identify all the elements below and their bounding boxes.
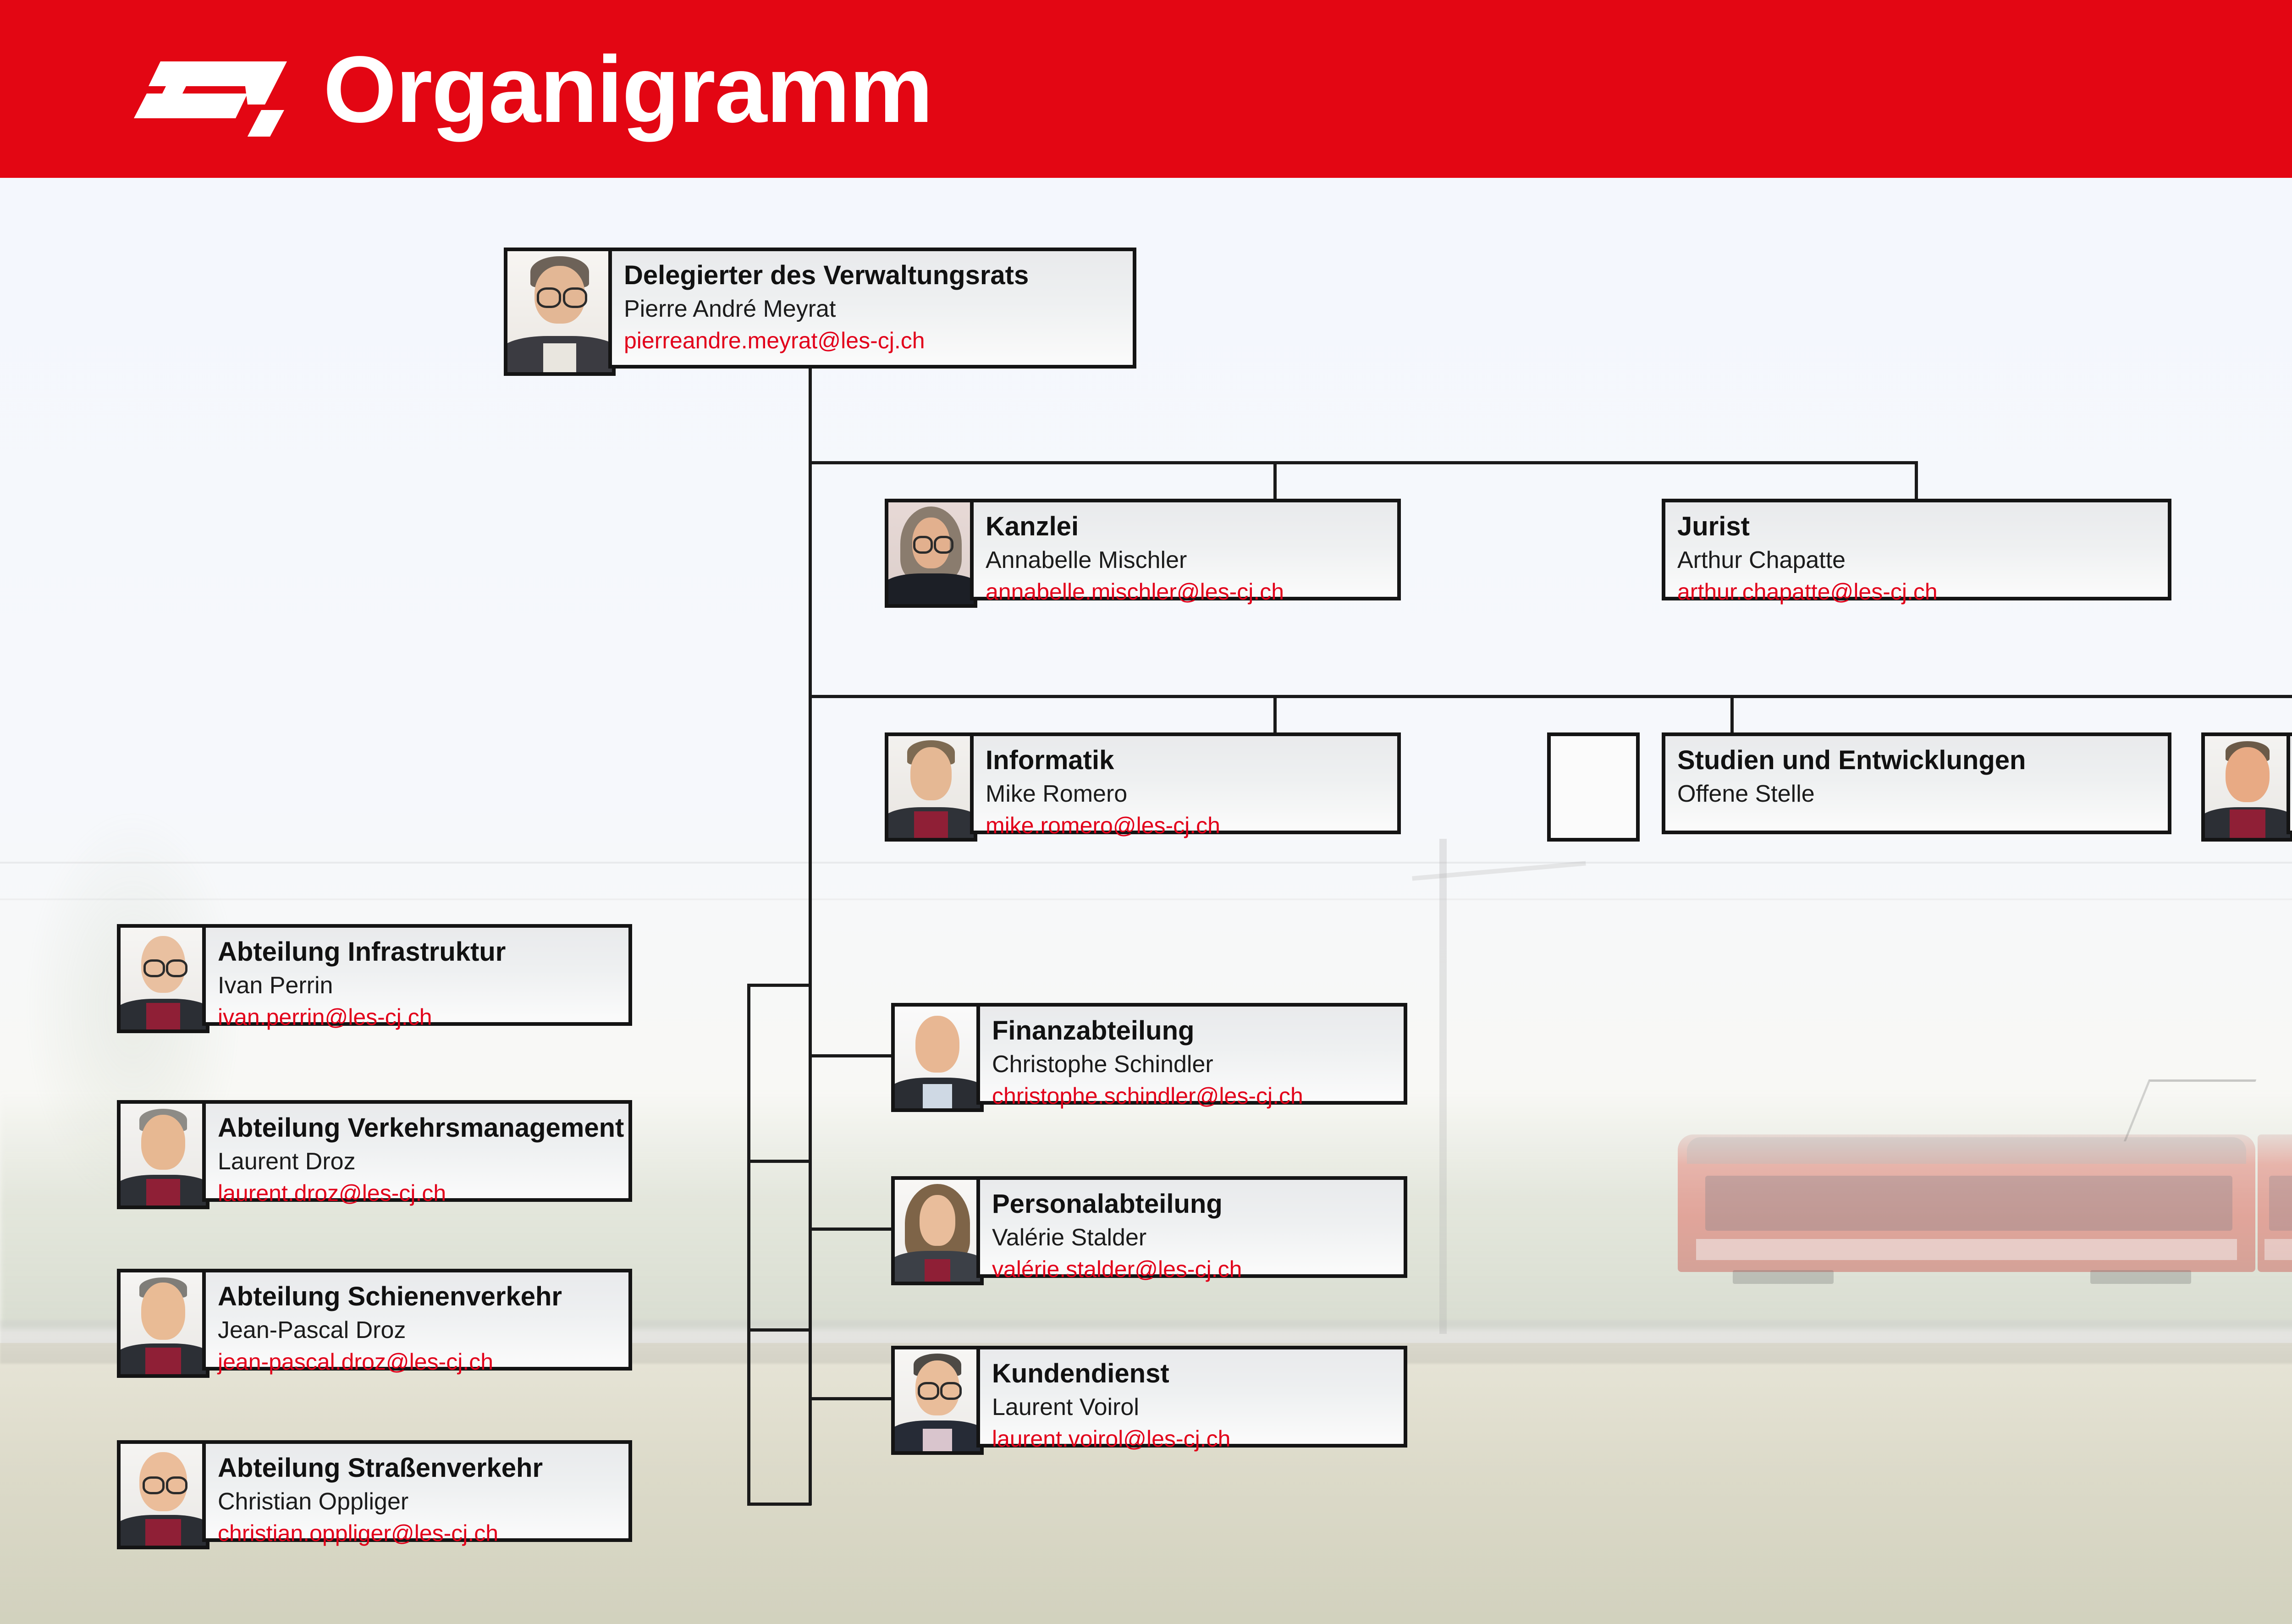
cj-logo [127,54,292,137]
avatar-schienenverkehr [117,1269,209,1378]
node-title: Delegierter des Verwaltungsrats [624,261,1133,289]
page-title: Organigramm [323,42,932,137]
portrait-christophe-schindler [895,1007,980,1108]
card-informatik[interactable]: Informatik Mike Romero mike.romero@les-c… [970,732,1401,834]
connector-schienenverkehr-stub [747,1328,811,1332]
avatar-strassenverkehr [117,1440,209,1549]
portrait-laurent-droz [121,1104,206,1206]
organigramm-page: Organigramm [0,0,2292,1624]
avatar-kanzlei [885,499,977,608]
card-jurist[interactable]: Jurist Arthur Chapatte arthur.chapatte@l… [1662,499,2171,600]
portrait-annabelle-mischler [888,502,974,604]
node-person: Annabelle Mischler [986,548,1397,573]
portrait-jean-philippe-croset [2205,736,2290,838]
node-email[interactable]: annabelle.mischler@les-cj.ch [986,580,1397,604]
card-sicherheit[interactable]: Sicherheit und Gesundheit Jean-Philippe … [2286,732,2292,834]
node-email[interactable]: pierreandre.meyrat@les-cj.ch [624,329,1133,353]
node-email[interactable]: valérie.stalder@les-cj.ch [992,1257,1404,1282]
node-title: Kanzlei [986,512,1397,540]
node-email[interactable]: mike.romero@les-cj.ch [986,814,1397,838]
node-title: Abteilung Straßenverkehr [218,1454,628,1482]
avatar-infrastruktur [117,924,209,1033]
connector-infrastruktur-stub [747,984,811,987]
node-title: Abteilung Verkehrsmanagement [218,1114,628,1142]
avatar-finanz [891,1003,984,1112]
avatar-placeholder-studien [1547,732,1640,842]
portrait-valerie-stalder [895,1180,980,1282]
card-root[interactable]: Delegierter des Verwaltungsrats Pierre A… [608,248,1136,369]
connector-studien-drop [1730,695,1734,732]
node-email[interactable]: arthur.chapatte@les-cj.ch [1677,580,2168,604]
node-title: Finanzabteilung [992,1017,1404,1045]
page-header: Organigramm [0,0,2292,178]
card-infrastruktur[interactable]: Abteilung Infrastruktur Ivan Perrin ivan… [202,924,632,1026]
node-email[interactable]: laurent.voirol@les-cj.ch [992,1427,1404,1451]
portrait-laurent-voirol [895,1349,980,1451]
connector-row-a-bar [809,461,1918,464]
node-title: Studien und Entwicklungen [1677,746,2168,774]
node-person: Christophe Schindler [992,1052,1404,1077]
node-person: Arthur Chapatte [1677,548,2168,573]
avatar-root [504,248,616,376]
connector-jurist-drop [1915,461,1918,499]
node-person: Valérie Stalder [992,1225,1404,1250]
avatar-kundendienst [891,1346,984,1455]
connector-strassenverkehr-stub [747,1503,811,1506]
card-kanzlei[interactable]: Kanzlei Annabelle Mischler annabelle.mis… [970,499,1401,600]
portrait-ivan-perrin [121,928,206,1029]
node-title: Kundendienst [992,1360,1404,1387]
node-person: Laurent Voirol [992,1395,1404,1420]
card-strassenverkehr[interactable]: Abteilung Straßenverkehr Christian Oppli… [202,1440,632,1542]
node-email[interactable]: laurent.droz@les-cj.ch [218,1181,628,1206]
avatar-personal [891,1176,984,1285]
node-email[interactable]: ivan.perrin@les-cj.ch [218,1005,628,1029]
connector-finanz-stub [809,1054,891,1057]
node-title: Informatik [986,746,1397,774]
connector-verkehrsmanagement-stub [747,1160,811,1163]
node-person: Christian Oppliger [218,1489,628,1514]
card-personal[interactable]: Personalabteilung Valérie Stalder valéri… [976,1176,1407,1278]
portrait-mike-romero [888,736,974,838]
node-person: Pierre André Meyrat [624,297,1133,322]
node-email[interactable]: jean-pascal.droz@les-cj.ch [218,1350,628,1374]
connector-row-b-bar [809,695,2292,698]
connector-left-rail [747,984,750,1506]
portrait-pierre-andre-meyrat [507,251,612,372]
connector-informatik-drop [1273,695,1277,732]
avatar-sicherheit [2201,732,2292,842]
connector-kanzlei-drop [1273,461,1277,499]
avatar-verkehrsmanagement [117,1100,209,1209]
connector-personal-stub [809,1228,891,1231]
portrait-jean-pascal-droz [121,1272,206,1374]
node-person: Jean-Pascal Droz [218,1318,628,1343]
card-studien[interactable]: Studien und Entwicklungen Offene Stelle [1662,732,2171,834]
connector-main-trunk [809,369,812,1505]
card-kundendienst[interactable]: Kundendienst Laurent Voirol laurent.voir… [976,1346,1407,1448]
avatar-informatik [885,732,977,842]
portrait-christian-oppliger [121,1444,206,1546]
node-person: Laurent Droz [218,1149,628,1174]
node-title: Abteilung Infrastruktur [218,938,628,966]
connector-kundendienst-stub [809,1397,891,1400]
card-verkehrsmanagement[interactable]: Abteilung Verkehrsmanagement Laurent Dro… [202,1100,632,1202]
org-chart: Delegierter des Verwaltungsrats Pierre A… [0,0,2292,1624]
node-email[interactable]: christophe.schindler@les-cj.ch [992,1084,1404,1108]
node-title: Abteilung Schienenverkehr [218,1283,628,1310]
node-person: Ivan Perrin [218,973,628,998]
node-title: Personalabteilung [992,1190,1404,1218]
node-title: Jurist [1677,512,2168,540]
node-email[interactable]: christian.oppliger@les-cj.ch [218,1521,628,1546]
node-person: Offene Stelle [1677,782,2168,807]
card-finanz[interactable]: Finanzabteilung Christophe Schindler chr… [976,1003,1407,1105]
node-person: Mike Romero [986,782,1397,807]
card-schienenverkehr[interactable]: Abteilung Schienenverkehr Jean-Pascal Dr… [202,1269,632,1371]
